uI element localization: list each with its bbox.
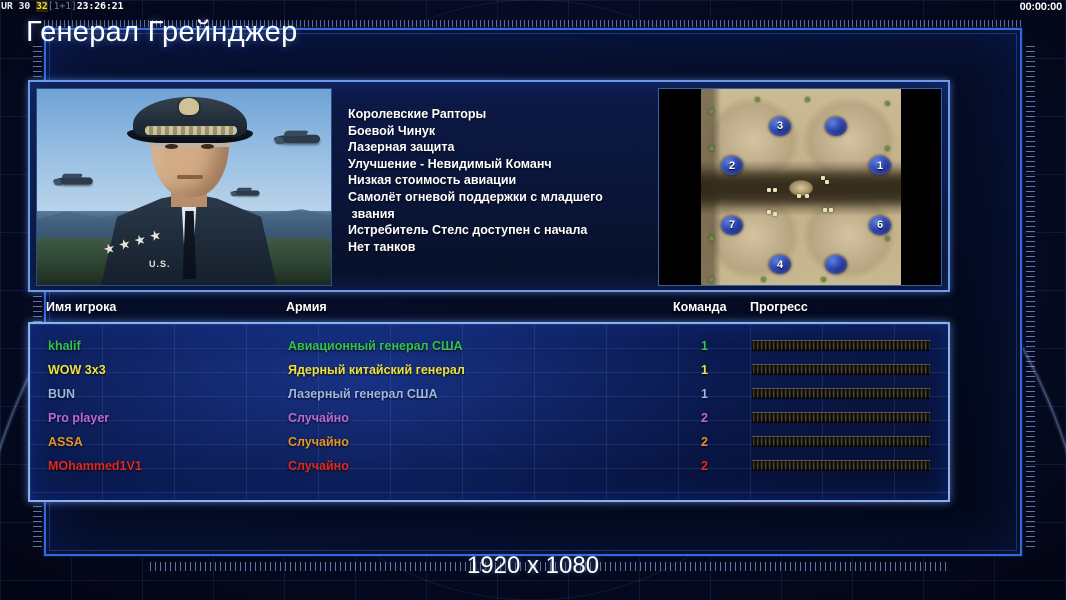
player-table-headers: Имя игрока Армия Команда Прогресс [28, 300, 950, 322]
minimap-tree-icon [709, 146, 714, 151]
player-army: Авиационный генерал США [288, 334, 463, 358]
star-icon [133, 233, 147, 247]
ability-line: Боевой Чинук [348, 123, 668, 140]
minimap-supply-icon [767, 188, 771, 192]
minimap-supply-icon [773, 212, 777, 216]
player-army: Случайно [288, 430, 349, 454]
star-icon [118, 238, 132, 252]
table-row[interactable]: MOhammed1V1Случайно2 [30, 454, 948, 478]
minimap-center-feature [789, 180, 813, 196]
player-progress-bar [752, 340, 930, 351]
minimap-supply-icon [797, 194, 801, 198]
player-name: khalif [48, 334, 81, 358]
start-position-marker: 4 [769, 255, 791, 274]
table-row[interactable]: WOW 3x3Ядерный китайский генерал1 [30, 358, 948, 382]
minimap-supply-icon [773, 188, 777, 192]
status-clock: 23:26:21 [77, 1, 124, 12]
minimap-supply-icon [829, 208, 833, 212]
start-position-marker: 7 [721, 216, 743, 235]
minimap-supply-icon [825, 180, 829, 184]
header-team: Команда [673, 300, 727, 314]
page-title: Генерал Грейнджер [26, 16, 298, 49]
player-progress-bar [752, 436, 930, 447]
minimap-tree-icon [709, 236, 714, 241]
officer-eye-right [201, 144, 214, 149]
player-name: MOhammed1V1 [48, 454, 142, 478]
minimap-tree-icon [885, 101, 890, 106]
officer-figure: U.S. [89, 105, 289, 285]
player-team: 1 [701, 382, 708, 406]
status-prefix: UR [1, 1, 13, 12]
minimap-tree-icon [805, 97, 810, 102]
general-ability-list: Королевские Рапторы Боевой Чинук Лазерна… [348, 106, 668, 255]
minimap: 3 2 1 7 6 4 [658, 88, 942, 286]
star-icon [102, 242, 116, 256]
player-army: Случайно [288, 406, 349, 430]
network-status-text: UR 30 32[1+1]23:26:21 [1, 0, 123, 14]
uniform-us-tag: U.S. [149, 259, 171, 269]
ability-line: звания [348, 206, 668, 223]
player-progress-bar [752, 412, 930, 423]
ability-line: Истребитель Стелс доступен с начала [348, 222, 668, 239]
resolution-label: 1920 x 1080 [0, 552, 1066, 580]
player-name: BUN [48, 382, 75, 406]
player-progress-bar [752, 460, 930, 471]
officer-cap-emblem [179, 98, 199, 115]
minimap-tree-icon [885, 236, 890, 241]
ability-line: Низкая стоимость авиации [348, 172, 668, 189]
table-row[interactable]: khalifАвиационный генерал США1 [30, 334, 948, 358]
player-team: 1 [701, 358, 708, 382]
minimap-supply-icon [767, 210, 771, 214]
ability-line: Улучшение - Невидимый Команч [348, 156, 668, 173]
minimap-tree-icon [709, 109, 714, 114]
officer-cap-braid [145, 126, 237, 135]
general-portrait: U.S. [36, 88, 332, 286]
minimap-tree-icon [709, 277, 714, 282]
loading-screen: UR 30 32[1+1]23:26:21 00:00:00 Генерал Г… [0, 0, 1066, 600]
player-team: 1 [701, 334, 708, 358]
ability-line: Нет танков [348, 239, 668, 256]
ability-line: Королевские Рапторы [348, 106, 668, 123]
officer-mouth [177, 175, 203, 179]
aircraft-icon [53, 177, 93, 184]
player-army: Случайно [288, 454, 349, 478]
start-position-marker: 3 [769, 117, 791, 136]
officer-eye-left [165, 144, 178, 149]
header-player-name: Имя игрока [46, 300, 116, 314]
minimap-tree-icon [755, 97, 760, 102]
general-info-box: U.S. Королевские Рапторы Боевой Чинук Ла… [28, 80, 950, 292]
player-army: Лазерный генерал США [288, 382, 437, 406]
player-name: WOW 3x3 [48, 358, 106, 382]
player-team: 2 [701, 406, 708, 430]
status-bracket: [1+1] [48, 1, 77, 12]
player-name: Pro player [48, 406, 109, 430]
start-position-marker [825, 117, 847, 136]
minimap-tree-icon [885, 146, 890, 151]
player-team: 2 [701, 430, 708, 454]
header-progress: Прогресс [750, 300, 808, 314]
table-row[interactable]: ASSAСлучайно2 [30, 430, 948, 454]
player-progress-bar [752, 364, 930, 375]
table-row[interactable]: Pro playerСлучайно2 [30, 406, 948, 430]
start-position-marker [825, 255, 847, 274]
minimap-terrain: 3 2 1 7 6 4 [701, 89, 901, 286]
start-position-marker: 6 [869, 216, 891, 235]
elapsed-timer: 00:00:00 [1020, 0, 1062, 14]
star-icon [149, 229, 163, 243]
minimap-supply-icon [805, 194, 809, 198]
player-list: khalifАвиационный генерал США1WOW 3x3Яде… [28, 322, 950, 502]
ability-line: Лазерная защита [348, 139, 668, 156]
ruler-right [1026, 46, 1035, 551]
player-team: 2 [701, 454, 708, 478]
table-row[interactable]: BUNЛазерный генерал США1 [30, 382, 948, 406]
minimap-tree-icon [821, 277, 826, 282]
minimap-tree-icon [761, 277, 766, 282]
player-army: Ядерный китайский генерал [288, 358, 465, 382]
header-army: Армия [286, 300, 327, 314]
player-progress-bar [752, 388, 930, 399]
minimap-supply-icon [823, 208, 827, 212]
player-name: ASSA [48, 430, 83, 454]
status-value-a: 30 [18, 1, 30, 12]
ability-line: Самолёт огневой поддержки с младшего [348, 189, 668, 206]
status-value-b: 32 [36, 1, 48, 12]
top-status-bar: UR 30 32[1+1]23:26:21 00:00:00 [0, 0, 1066, 14]
